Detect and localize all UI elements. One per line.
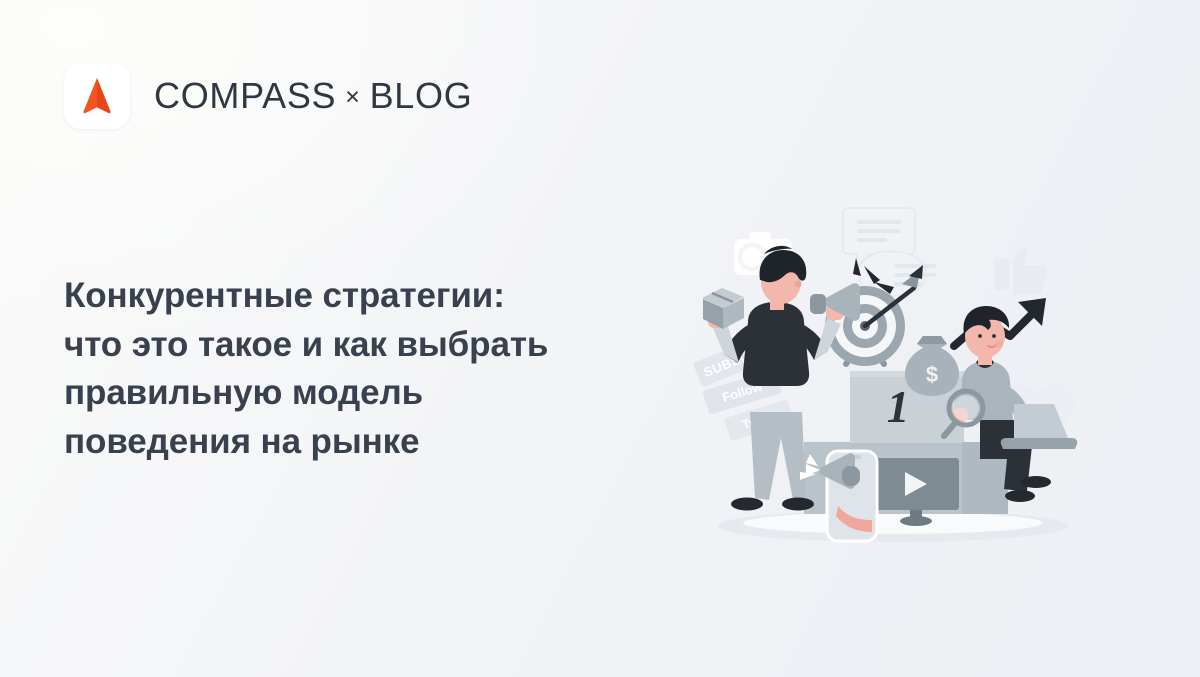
shoe-left [1005,490,1035,502]
podium-number: 1 [887,382,910,432]
shoe-right [782,498,814,511]
brand-name-primary: COMPASS [154,78,336,114]
brand-wordmark: COMPASS × BLOG [154,78,472,114]
shoe-left [731,498,763,511]
blog-cover-canvas: COMPASS × BLOG Конкурентные стратегии: ч… [0,0,1200,677]
brand-separator-icon: × [345,85,360,110]
page-title-line-4: поведения на рынке [64,418,664,467]
money-bag-symbol: $ [926,362,938,387]
page-title-line-2: что это такое и как выбрать [64,321,664,370]
compass-arrow-icon [64,63,130,129]
brand-name-secondary: BLOG [370,78,473,114]
thumbs-up-icon [994,249,1047,295]
page-title-line-3: правильную модель [64,369,664,418]
page-title-line-1: Конкурентные стратегии: [64,272,664,321]
shoe-right [1021,476,1051,488]
page-title: Конкурентные стратегии: что это такое и … [64,272,664,467]
marketing-competition-illustration: SUBSCRIBE Follow Tweet [688,196,1088,566]
brand-logo[interactable]: COMPASS × BLOG [64,63,472,129]
